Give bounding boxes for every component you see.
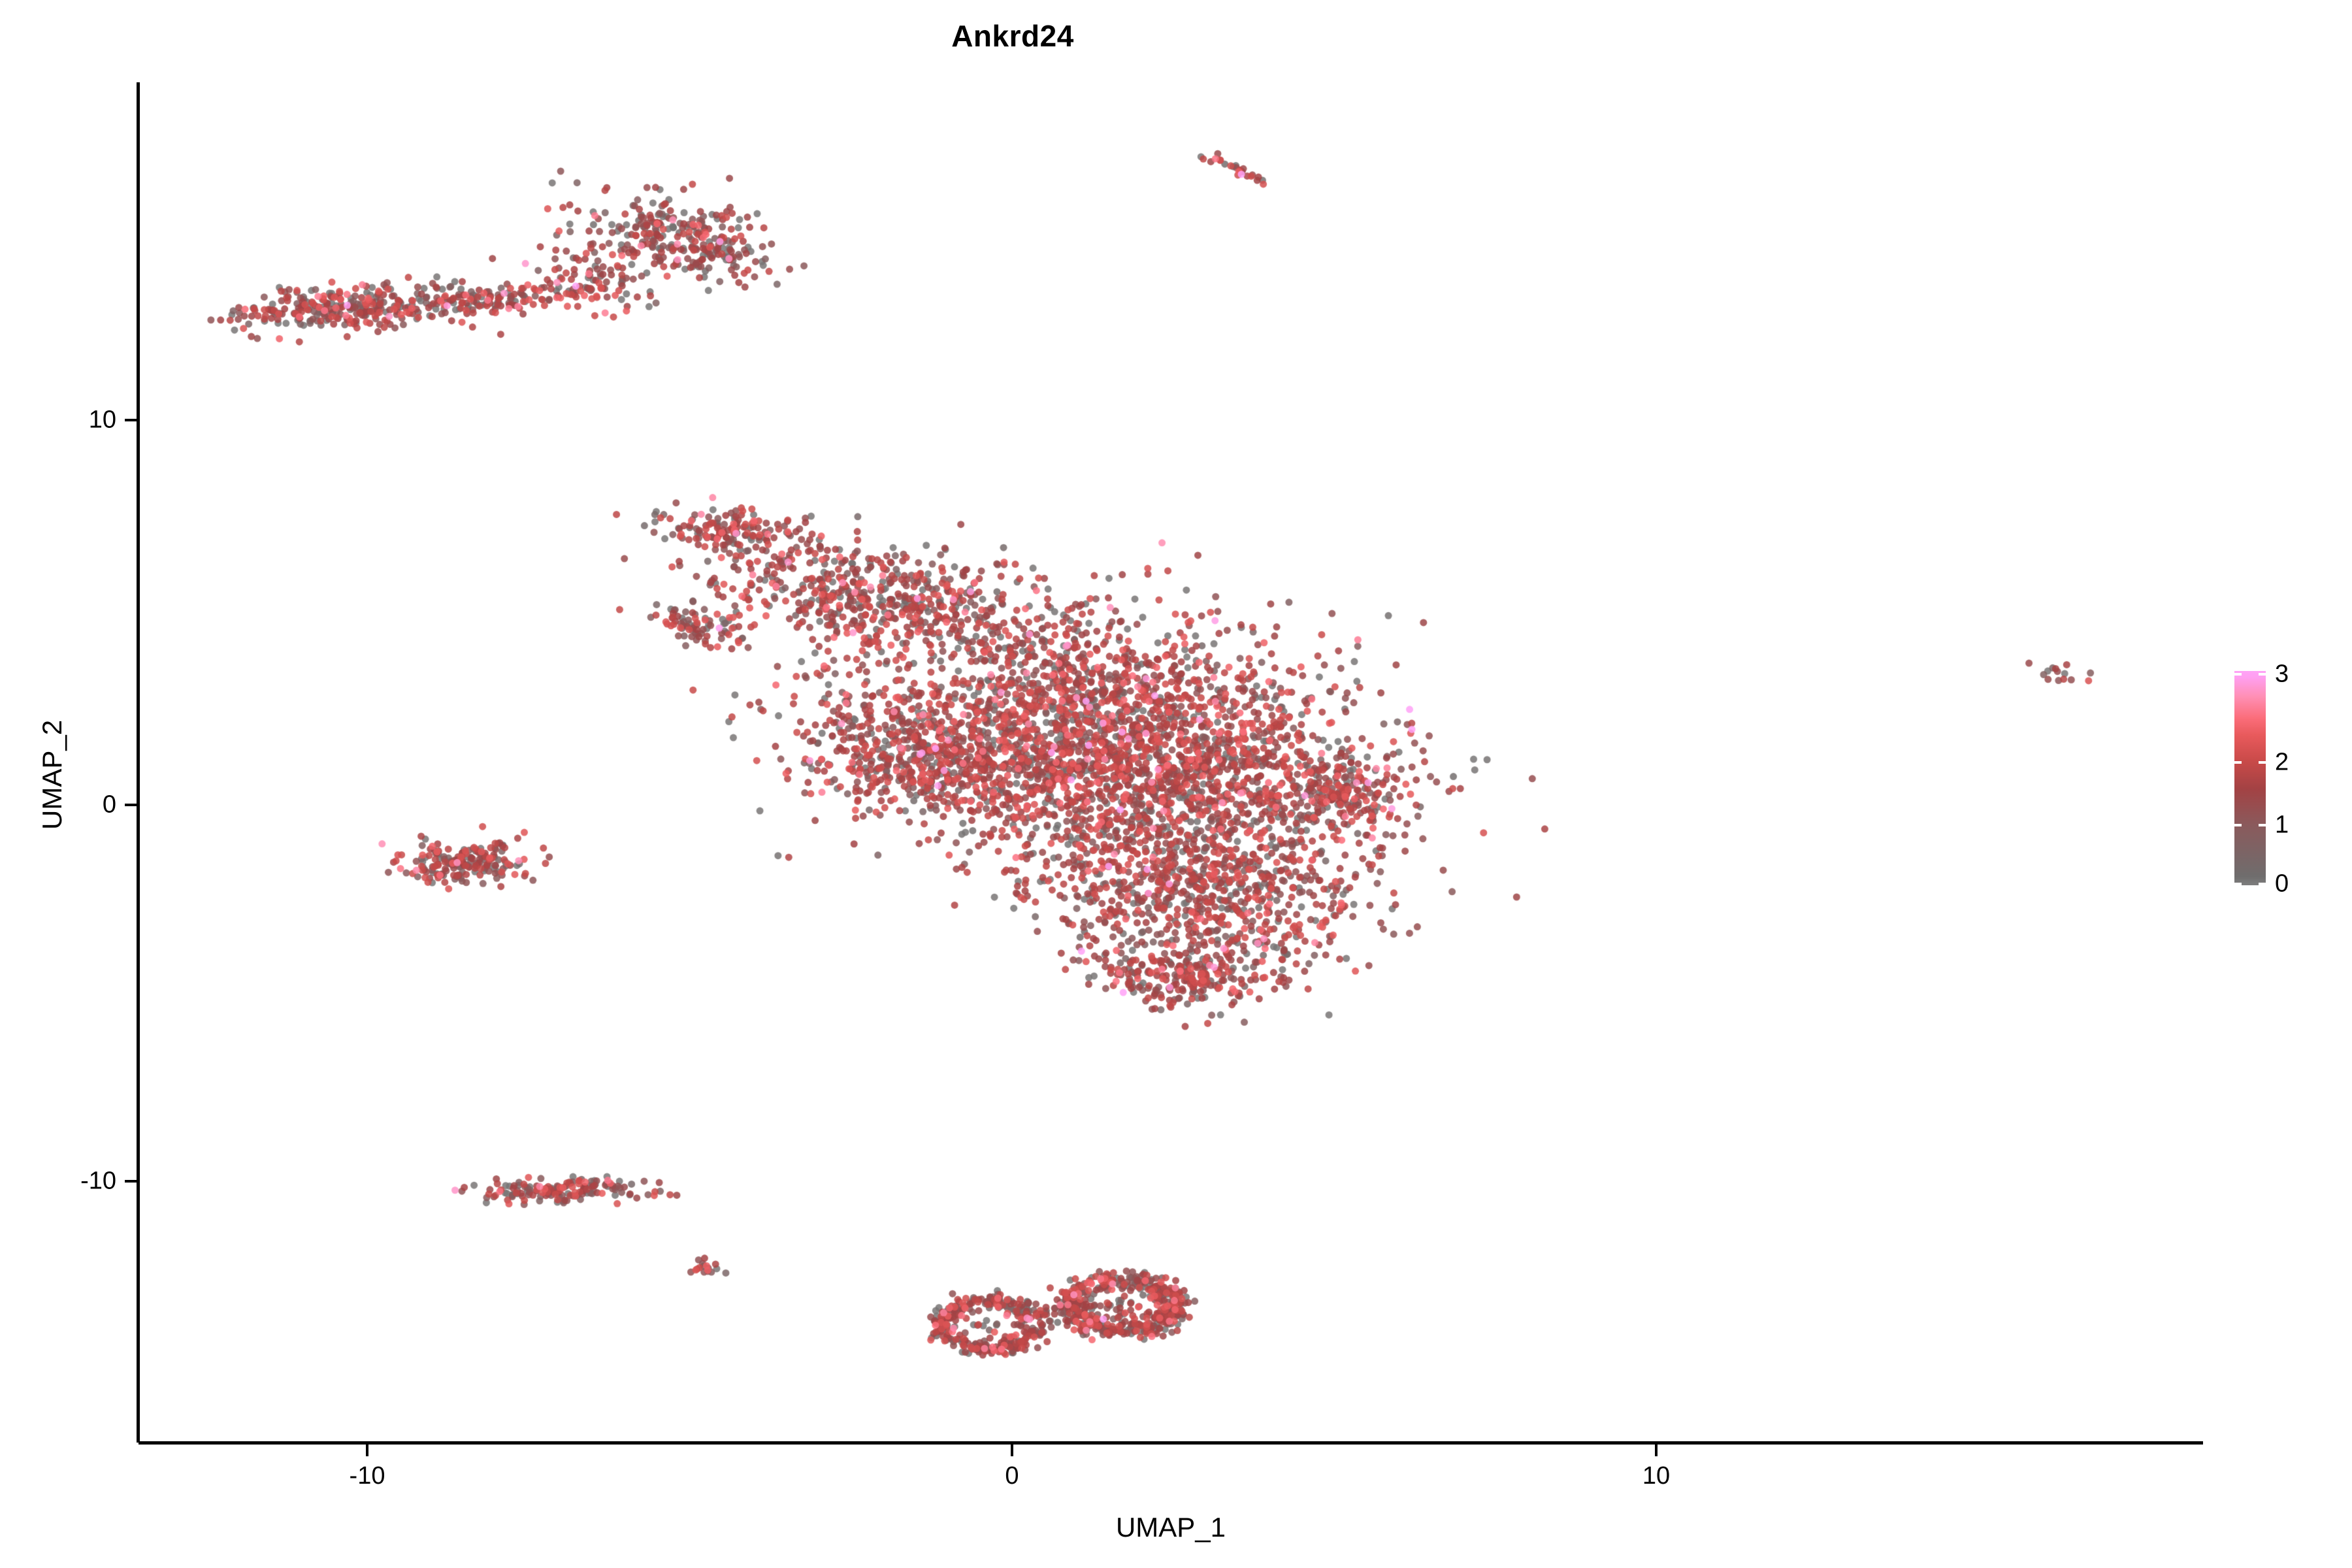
colorbar-label-3: 3 xyxy=(2275,661,2289,689)
x-tick-mark xyxy=(1655,1445,1658,1456)
y-tick-mark xyxy=(125,804,137,806)
x-tick-label-10: 10 xyxy=(1642,1462,1670,1490)
y-tick-label-10: 10 xyxy=(89,406,116,434)
x-tick-label-0: 0 xyxy=(1005,1462,1019,1490)
x-axis-title: UMAP_1 xyxy=(139,1512,2203,1543)
colorbar-tick xyxy=(2234,883,2242,885)
umap-feature-plot: Ankrd24 -10 0 10 -10 0 10 UMAP_1 UMAP_2 … xyxy=(0,0,2352,1568)
y-axis-title: UMAP_2 xyxy=(37,725,68,830)
colorbar-label-1: 1 xyxy=(2275,811,2289,840)
y-tick-label-neg10: -10 xyxy=(80,1168,116,1196)
y-tick-mark xyxy=(125,419,137,421)
colorbar-tick xyxy=(2259,761,2266,764)
colorbar-label-2: 2 xyxy=(2275,749,2289,777)
colorbar-tick xyxy=(2259,883,2266,885)
x-axis-line xyxy=(139,1441,2203,1445)
colorbar-tick xyxy=(2234,761,2242,764)
colorbar-label-0: 0 xyxy=(2275,870,2289,898)
colorbar-tick xyxy=(2234,824,2242,826)
x-tick-mark xyxy=(1011,1445,1013,1456)
y-axis-line xyxy=(137,82,140,1443)
x-tick-label-neg10: -10 xyxy=(350,1462,385,1490)
colorbar-tick xyxy=(2259,824,2266,826)
scatter-plot-canvas xyxy=(0,0,2352,1568)
y-tick-label-0: 0 xyxy=(103,791,116,819)
colorbar-legend: 0 1 2 3 xyxy=(2234,665,2332,894)
y-tick-mark xyxy=(125,1180,137,1183)
x-tick-mark xyxy=(366,1445,368,1456)
colorbar-gradient xyxy=(2234,671,2266,885)
colorbar-tick xyxy=(2234,673,2242,676)
colorbar-tick xyxy=(2259,673,2266,676)
